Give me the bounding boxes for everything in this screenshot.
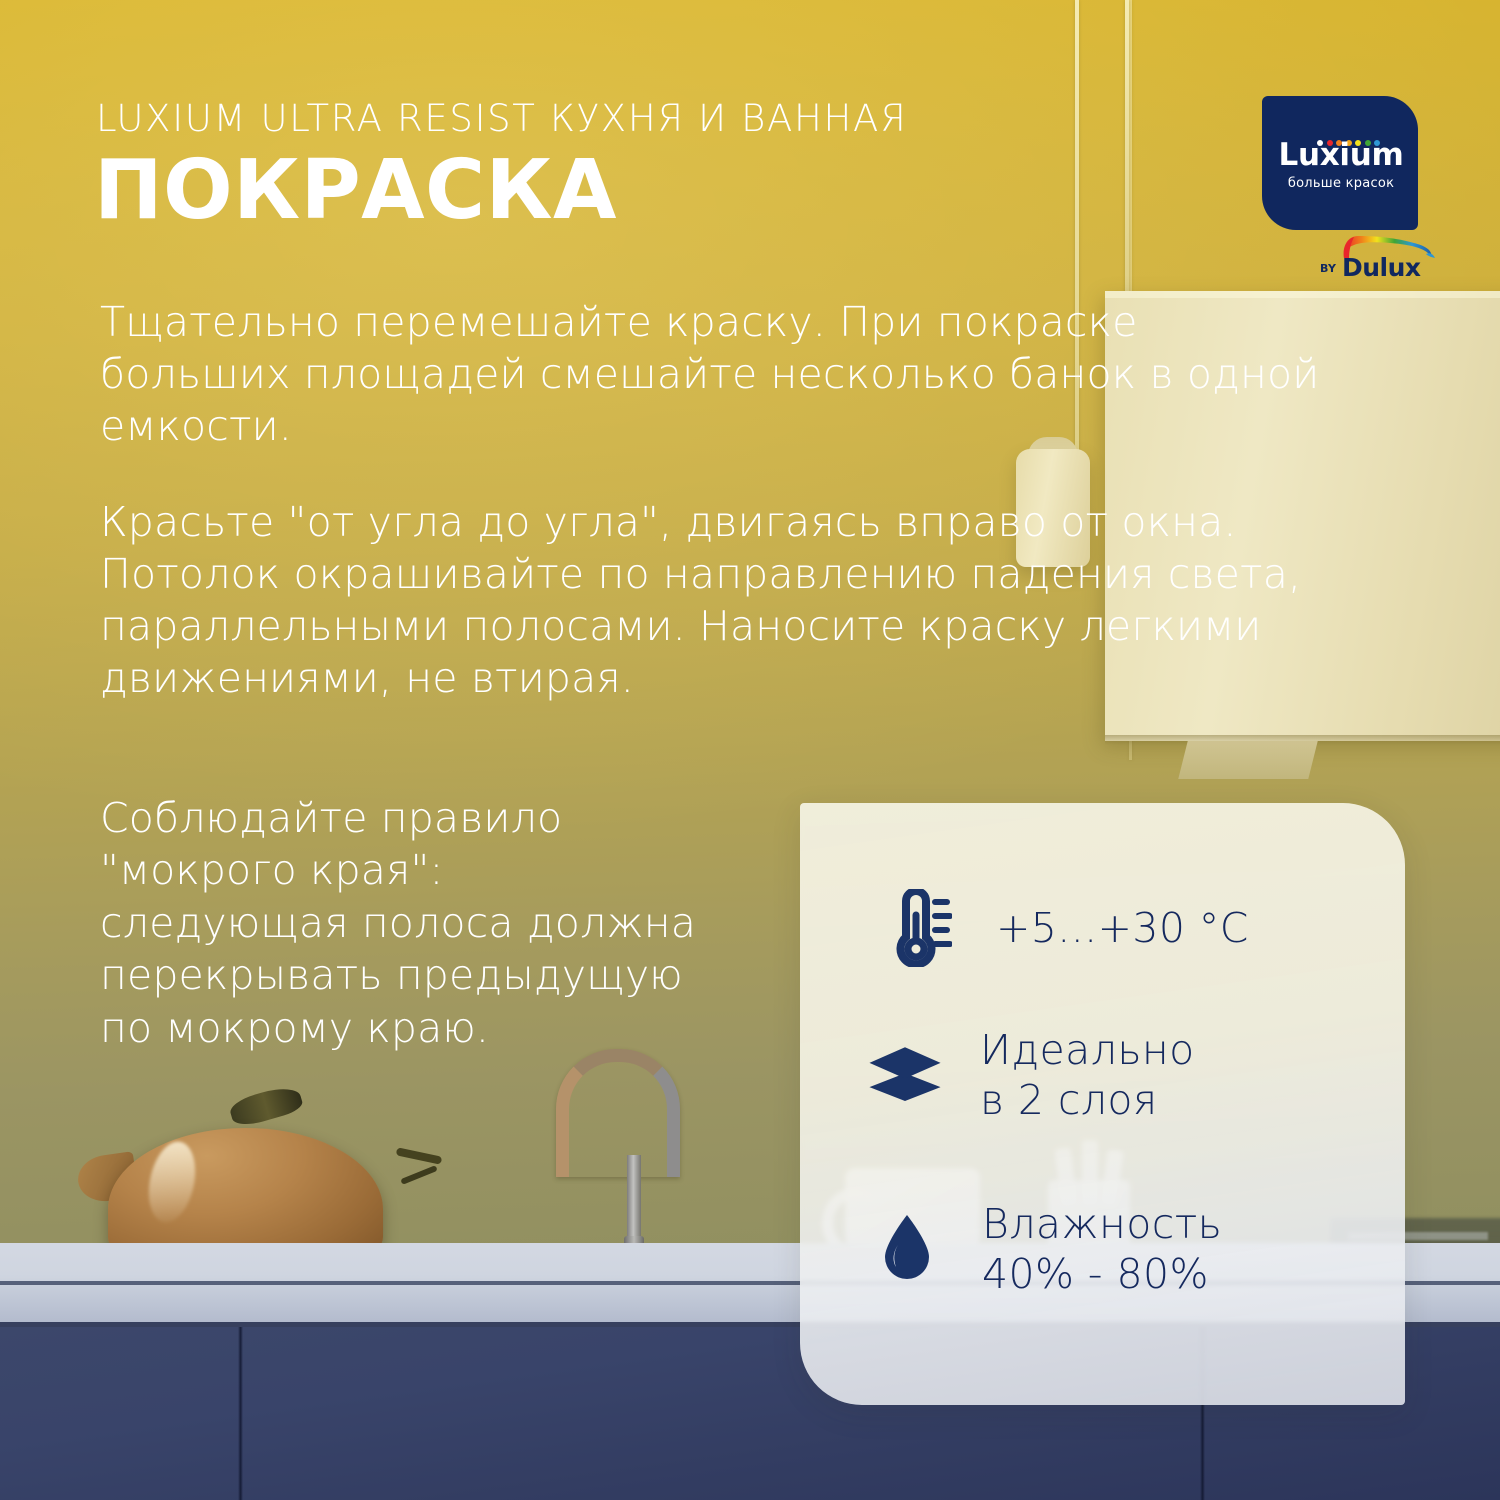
spec-coats-value: Идеально в 2 слоя	[980, 1025, 1195, 1125]
page-title: ПОКРАСКА	[94, 150, 617, 232]
instruction-paragraph-1: Тщательно перемешайте краску. При покрас…	[100, 296, 1330, 452]
cabinet-seam-1	[238, 1327, 243, 1500]
spec-row-humidity: Влажность 40% - 80%	[868, 1199, 1222, 1299]
instruction-paragraph-3: Соблюдайте правило "мокрого края": следу…	[100, 792, 700, 1054]
luxium-tagline: больше красок	[1272, 176, 1410, 191]
specs-card-rows: +5...+30 °C Идеально в 2 слоя Влажность …	[800, 803, 1405, 1405]
poster-canvas: LUXIUM ULTRA RESIST КУХНЯ И ВАННАЯ ПОКРА…	[0, 0, 1500, 1500]
water-drop-icon	[868, 1211, 946, 1287]
pendant-cord-right	[1125, 0, 1129, 300]
spec-humidity-value: Влажность 40% - 80%	[982, 1199, 1222, 1299]
spec-temperature-value: +5...+30 °C	[996, 903, 1249, 953]
faucet-arc	[556, 1049, 680, 1177]
layers-icon	[866, 1039, 944, 1111]
instruction-paragraph-2: Красьте "от угла до угла", двигаясь впра…	[100, 496, 1330, 704]
product-kicker: LUXIUM ULTRA RESIST КУХНЯ И ВАННАЯ	[96, 97, 907, 140]
upper-cabinet-underside	[1178, 741, 1317, 779]
dulux-by-label: BY	[1320, 262, 1336, 275]
dulux-wordmark: Dulux	[1342, 253, 1421, 282]
thermometer-icon	[882, 889, 960, 967]
dulux-endorsement: BY Dulux	[1320, 238, 1442, 286]
spec-row-coats: Идеально в 2 слоя	[866, 1025, 1195, 1125]
luxium-wordmark: Luxium	[1278, 140, 1404, 171]
spec-row-temperature: +5...+30 °C	[882, 889, 1249, 967]
brand-logo: Luxium больше красок BY	[1262, 96, 1442, 291]
